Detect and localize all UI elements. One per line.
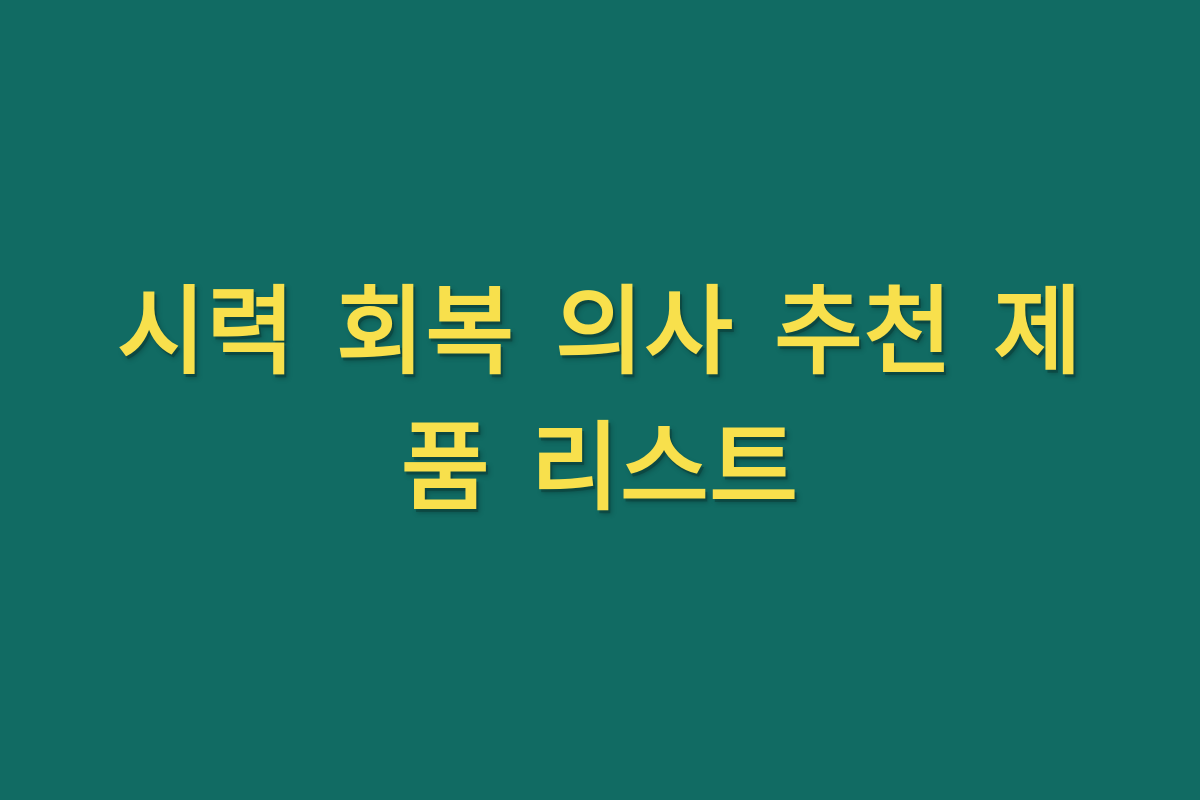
title-line-1: 시력 회복 의사 추천 제 [95, 264, 1105, 400]
title-line-2: 품 리스트 [95, 400, 1105, 536]
title-banner: 시력 회복 의사 추천 제 품 리스트 [0, 0, 1200, 800]
page-title: 시력 회복 의사 추천 제 품 리스트 [95, 264, 1105, 537]
